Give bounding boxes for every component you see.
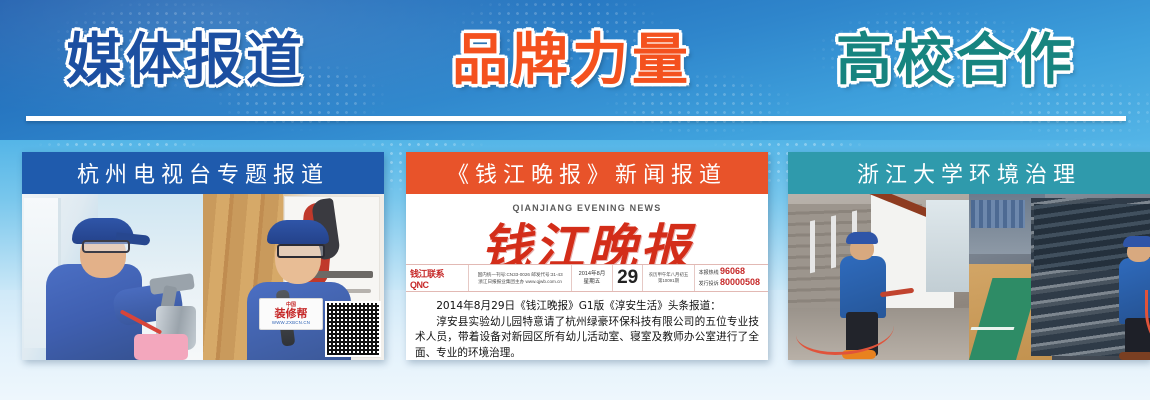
microphone-flag-logo: 中国 装修帮 WWW.ZXBCN.CN xyxy=(259,298,323,330)
date-weekday: 星期五 xyxy=(584,278,601,286)
panel-title-hangzhou-tv: 杭州电视台专题报道 xyxy=(22,152,384,194)
newspaper-day-number: 29 xyxy=(613,265,644,291)
publication-info-line-2: 浙江日报报业集团主办 www.qjwb.com.cn xyxy=(478,278,562,285)
panel-photos-zhejiang-university xyxy=(788,194,1150,360)
issue-number-line: 第10091期 xyxy=(658,278,679,284)
newspaper-info-strip: 钱江联系 QNC 国内统一刊号:CN33-0026 邮发代号:31-43 浙江日… xyxy=(406,264,768,292)
panel-qianjiang-evening-news[interactable]: 《钱江晚报》新闻报道 QIANJIANG EVENING NEWS 钱江晚报 钱… xyxy=(406,152,768,360)
poster-text-line-1 xyxy=(309,271,373,278)
newspaper-masthead: QIANJIANG EVENING NEWS 钱江晚报 钱江联系 QNC 国内统… xyxy=(406,194,768,292)
article-paragraph-2: 淳安县实验幼儿园特意请了杭州绿豪环保科技有限公司的五位专业技术人员，带着设备对新… xyxy=(415,315,759,361)
hotline-label-2: 发行投诉 xyxy=(699,281,719,287)
eyeglasses-icon xyxy=(277,244,325,258)
worker-shoes xyxy=(1119,352,1150,360)
photo-interview-with-microphone: 中国 装修帮 WWW.ZXBCN.CN xyxy=(203,194,384,360)
newspaper-hotlines: 本报热线 96068 发行投诉 80000508 xyxy=(695,265,768,291)
worker-cap xyxy=(846,232,878,244)
heading-media-coverage: 媒体报道 xyxy=(66,26,306,96)
qr-code-icon xyxy=(325,301,381,357)
worker-cap xyxy=(1123,236,1150,247)
photo-worker-spraying-staircase xyxy=(788,194,969,360)
glass-window-wall xyxy=(926,200,969,292)
court-boundary-line xyxy=(971,327,1015,330)
hotline-label-1: 本报热线 xyxy=(699,270,719,276)
newspaper-logo-text: 钱江联系 QNC xyxy=(406,265,469,291)
newspaper-publication-info: 国内统一刊号:CN33-0026 邮发代号:31-43 浙江日报报业集团主办 w… xyxy=(469,265,572,291)
headings-row: 媒体报道 品牌力量 高校合作 xyxy=(0,0,1150,140)
heading-university-cooperation: 高校合作 xyxy=(836,26,1076,96)
promotional-banner: 媒体报道 品牌力量 高校合作 杭州电视台专题报道 xyxy=(0,0,1150,400)
photo-worker-spraying-wall xyxy=(22,194,203,360)
panel-title-qianjiang: 《钱江晚报》新闻报道 xyxy=(406,152,768,194)
hotline-row-2: 发行投诉 80000508 xyxy=(699,278,760,289)
far-seat-rows xyxy=(971,200,1025,228)
pink-equipment xyxy=(134,334,188,360)
article-paragraph-1: 2014年8月29日《钱江晚报》G1版《淳安生活》头条报道： xyxy=(415,299,759,315)
heading-brand-power: 品牌力量 xyxy=(452,26,692,96)
photo-worker-spraying-gymnasium xyxy=(969,194,1150,360)
interviewee-cap xyxy=(267,220,329,244)
date-year-month: 2014年8月 xyxy=(579,270,606,278)
eyeglasses-icon xyxy=(82,240,130,253)
panel-title-zhejiang-university: 浙江大学环境治理 xyxy=(788,152,1150,194)
qr-code-pattern xyxy=(327,303,379,355)
panel-hangzhou-tv[interactable]: 杭州电视台专题报道 xyxy=(22,152,384,360)
mic-flag-main-text: 装修帮 xyxy=(275,308,308,320)
hotline-number-2: 80000508 xyxy=(720,277,760,287)
newspaper-clipping: QIANJIANG EVENING NEWS 钱江晚报 钱江联系 QNC 国内统… xyxy=(406,194,768,360)
newspaper-article-text: 2014年8月29日《钱江晚报》G1版《淳安生活》头条报道： 淳安县实验幼儿园特… xyxy=(406,292,768,360)
panel-zhejiang-university[interactable]: 浙江大学环境治理 xyxy=(788,152,1150,360)
panel-photos-hangzhou-tv: 中国 装修帮 WWW.ZXBCN.CN xyxy=(22,194,384,360)
newspaper-lunar-date: 农历甲午年八月初五 第10091期 xyxy=(643,265,694,291)
publication-info-line-1: 国内统一刊号:CN33-0026 邮发代号:31-43 xyxy=(478,271,563,278)
newspaper-date: 2014年8月 星期五 xyxy=(572,265,613,291)
mic-flag-url: WWW.ZXBCN.CN xyxy=(272,320,310,326)
heading-divider-line xyxy=(26,116,1126,121)
hotline-number-1: 96068 xyxy=(720,266,745,276)
